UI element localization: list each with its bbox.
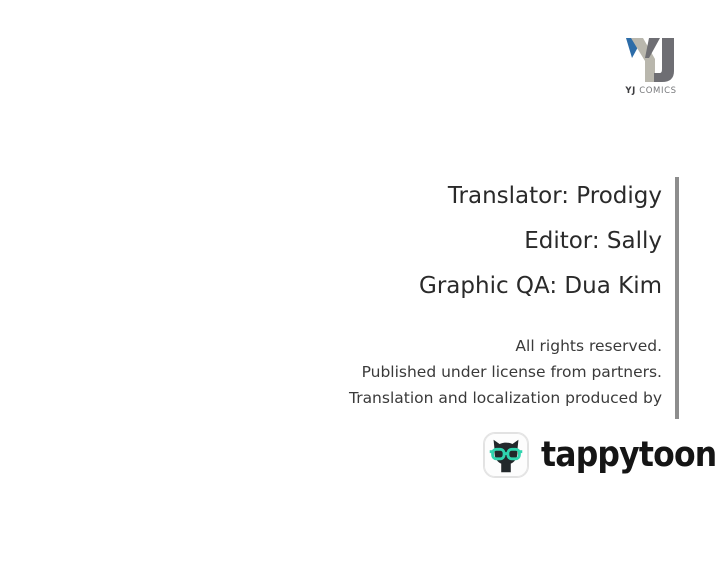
tappytoon-wordmark: tappytoon [541,438,716,473]
publisher-name: YJ COMICS [618,86,684,96]
credits-page: YJ COMICS Translator: Prodigy Editor: Sa… [0,0,720,579]
credits-block: Translator: Prodigy Editor: Sally Graphi… [40,174,662,309]
credit-line-translator: Translator: Prodigy [40,174,662,219]
yj-comics-logo-icon [624,36,680,84]
legal-line-rights: All rights reserved. [40,333,662,359]
legal-line-producer: Translation and localization produced by [40,385,662,411]
publisher-name-suffix: COMICS [636,86,677,96]
tappytoon-brand-lockup: tappytoon [483,428,720,482]
tappytoon-cat-icon [483,432,529,478]
publisher-logo: YJ COMICS [618,36,684,104]
vertical-rule [675,177,679,419]
publisher-name-prefix: YJ [625,86,636,96]
legal-line-license: Published under license from partners. [40,359,662,385]
legal-block: All rights reserved. Published under lic… [40,333,662,411]
credit-line-graphic-qa: Graphic QA: Dua Kim [40,264,662,309]
credit-line-editor: Editor: Sally [40,219,662,264]
